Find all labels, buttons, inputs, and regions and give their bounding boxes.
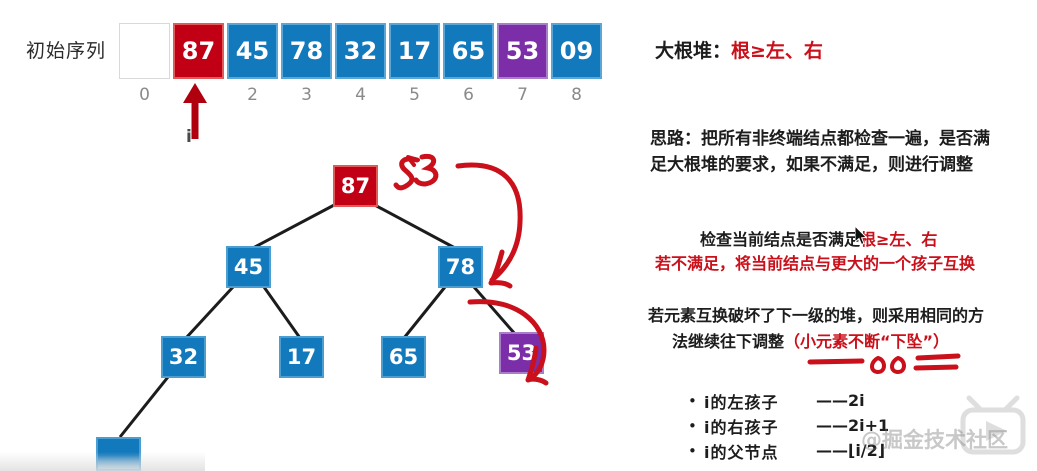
heap-definition-line: 大根堆：根≥左、右 bbox=[655, 36, 823, 63]
adjust-line-1: 若元素互换破坏了下一级的堆，则采用相同的方 bbox=[648, 302, 984, 326]
tree-node-32: 32 bbox=[161, 336, 206, 378]
formula-name: i的父节点 bbox=[704, 439, 816, 463]
formula-row-2: •i的父节点——⌊i/2⌋ bbox=[688, 438, 889, 463]
check-line-1: 检查当前结点是否满足根≥左、右 bbox=[700, 226, 937, 250]
swap-curved-arrows bbox=[440, 152, 570, 392]
adjust-line-2-black: 法继续往下调整 bbox=[672, 332, 784, 351]
formula-name: i的右孩子 bbox=[704, 414, 816, 438]
check-line-1-red: 根≥左、右 bbox=[860, 230, 937, 249]
bullet-dot-icon: • bbox=[688, 417, 704, 435]
adjust-line-2: 法继续往下调整（小元素不断“下坠”） bbox=[672, 328, 949, 352]
slide-canvas: 初始序列 8745783217655309 02345678 i 8745783… bbox=[0, 0, 1037, 471]
tree-node-87: 87 bbox=[333, 165, 378, 207]
check-line-1-black: 检查当前结点是否满足 bbox=[700, 230, 860, 249]
play-tv-icon bbox=[955, 392, 1031, 458]
index-formula-list: •i的左孩子——2i•i的右孩子——2i+1•i的父节点——⌊i/2⌋ bbox=[688, 388, 889, 463]
video-player-controls-bar[interactable] bbox=[0, 452, 205, 471]
formula-row-0: •i的左孩子——2i bbox=[688, 388, 889, 413]
heap-rule: 根≥左、右 bbox=[731, 40, 823, 62]
adjust-line-2-red: （小元素不断“下坠”） bbox=[784, 332, 949, 351]
mouse-cursor-icon bbox=[855, 226, 869, 246]
formula-expression: ——2i bbox=[816, 391, 865, 410]
heap-label: 大根堆： bbox=[655, 40, 731, 62]
formula-name: i的左孩子 bbox=[704, 389, 816, 413]
handwritten-underline-annotation bbox=[806, 350, 966, 380]
tree-node-45: 45 bbox=[226, 246, 271, 288]
check-line-2: 若不满足，将当前结点与更大的一个孩子互换 bbox=[655, 250, 975, 274]
idea-line-1: 思路：把所有非终端结点都检查一遍，是否满 bbox=[650, 124, 990, 149]
formula-row-1: •i的右孩子——2i+1 bbox=[688, 413, 889, 438]
tree-node-65: 65 bbox=[381, 336, 426, 378]
idea-line-2: 足大根堆的要求，如果不满足，则进行调整 bbox=[650, 150, 973, 175]
bullet-dot-icon: • bbox=[688, 442, 704, 460]
tree-node-17: 17 bbox=[279, 336, 324, 378]
bullet-dot-icon: • bbox=[688, 392, 704, 410]
